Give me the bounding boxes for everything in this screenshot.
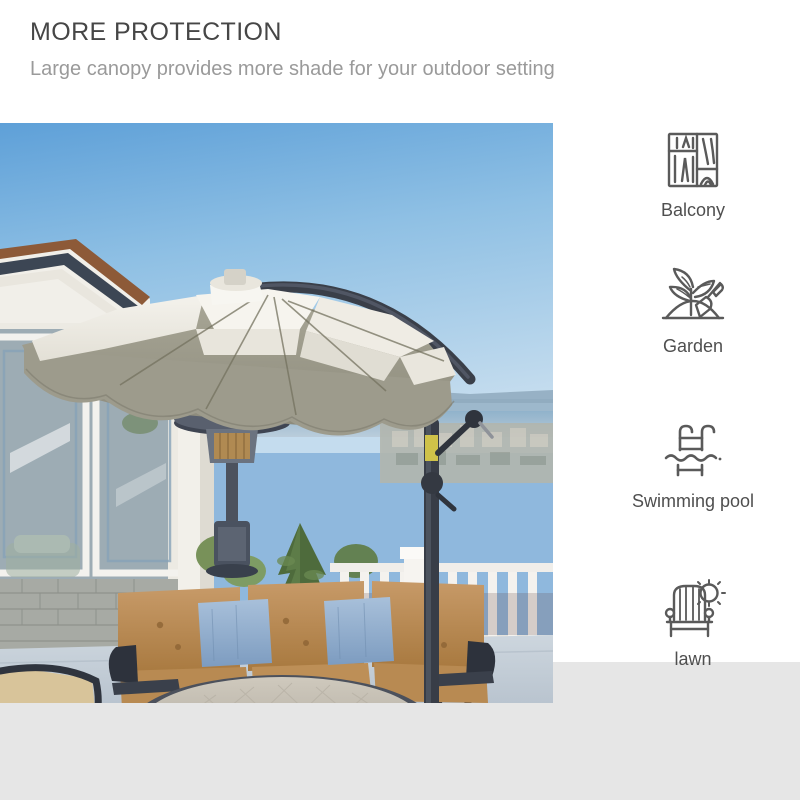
feature-label: Garden [593,336,793,358]
feature-label: lawn [593,649,793,671]
feature-label: Swimming pool [593,491,793,513]
garden-icon [593,265,793,327]
page-subtitle: Large canopy provides more shade for you… [30,57,730,81]
feature-label: Balcony [593,200,793,222]
product-photo [0,123,553,703]
header: MORE PROTECTION Large canopy provides mo… [30,18,730,81]
product-feature-page: MORE PROTECTION Large canopy provides mo… [0,0,800,800]
balcony-icon [593,129,793,191]
feature-list: Balcony Garden [593,123,793,703]
feature-item-garden: Garden [593,265,793,358]
lawn-chair-icon [593,578,793,640]
swimming-pool-icon [593,420,793,482]
feature-item-balcony: Balcony [593,129,793,222]
page-title: MORE PROTECTION [30,18,730,47]
feature-item-swimming-pool: Swimming pool [593,420,793,513]
feature-item-lawn: lawn [593,578,793,671]
gray-panel-bottom [0,703,800,800]
